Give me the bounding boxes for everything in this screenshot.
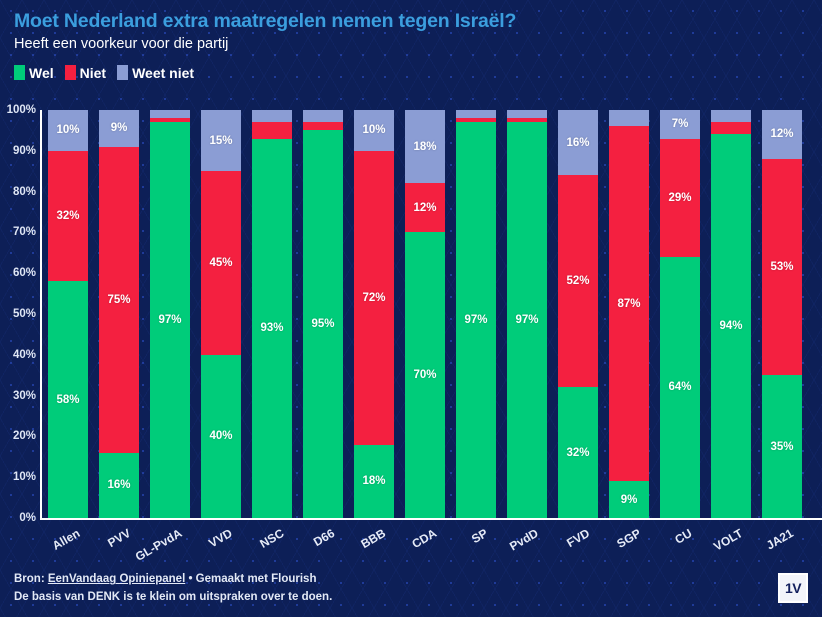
bar-segment-label: 75% xyxy=(107,294,130,306)
y-axis-line xyxy=(40,110,42,518)
bar-column[interactable]: 10%72%18% xyxy=(354,110,394,518)
x-axis-tick: NSC xyxy=(252,520,292,575)
bar-segment[interactable]: 70% xyxy=(405,232,445,518)
x-axis-tick-label: PVV xyxy=(105,526,133,550)
x-axis-tick-label: JA21 xyxy=(764,526,796,552)
bar-column[interactable]: 12%53%35% xyxy=(762,110,802,518)
y-axis-tick-label: 100% xyxy=(7,104,36,116)
y-axis-tick-label: 50% xyxy=(13,308,36,320)
bar-column[interactable]: 16%52%32% xyxy=(558,110,598,518)
bar-segment[interactable]: 7% xyxy=(660,110,700,139)
bar-segment[interactable]: 97% xyxy=(456,122,496,518)
legend-item-weet-niet[interactable]: Weet niet xyxy=(117,65,194,81)
legend-label: Wel xyxy=(29,65,54,81)
bar-segment-label: 9% xyxy=(621,494,638,506)
bar-segment[interactable]: 9% xyxy=(609,481,649,518)
bar-segment[interactable]: 10% xyxy=(354,110,394,151)
bar-segment-label: 97% xyxy=(158,314,181,326)
footer-note: De basis van DENK is te klein om uitspra… xyxy=(14,589,332,607)
source-suffix: • Gemaakt met Flourish xyxy=(185,573,316,585)
x-axis: AllenPVVGL-PvdAVVDNSCD66BBBCDASPPvdDFVDS… xyxy=(48,520,822,575)
bar-segment[interactable]: 12% xyxy=(405,183,445,232)
bar-segment-label: 10% xyxy=(56,124,79,136)
x-axis-tick-label: GL-PvdA xyxy=(133,526,184,564)
bar-segment-label: 52% xyxy=(566,275,589,287)
bar-segment-label: 53% xyxy=(770,261,793,273)
x-axis-tick: SP xyxy=(456,520,496,575)
bar-segment[interactable] xyxy=(252,110,292,122)
x-axis-tick: CU xyxy=(660,520,700,575)
bar-segment[interactable]: 97% xyxy=(150,122,190,518)
bar-segment-label: 93% xyxy=(260,322,283,334)
x-axis-tick-label: NSC xyxy=(257,526,286,551)
bar-segment-label: 12% xyxy=(413,202,436,214)
bar-column[interactable]: 10%32%58% xyxy=(48,110,88,518)
source-line: Bron: EenVandaag Opiniepanel • Gemaakt m… xyxy=(14,571,332,589)
bar-segment-label: 87% xyxy=(617,298,640,310)
bar-segment[interactable] xyxy=(303,110,343,122)
y-axis-tick-label: 20% xyxy=(13,430,36,442)
bar-segment[interactable]: 58% xyxy=(48,281,88,518)
bar-column[interactable]: 94% xyxy=(711,110,751,518)
bar-segment[interactable]: 16% xyxy=(99,453,139,518)
bar-column[interactable]: 87%9% xyxy=(609,110,649,518)
bar-segment[interactable]: 18% xyxy=(405,110,445,183)
x-axis-tick: Allen xyxy=(48,520,88,575)
bar-segment[interactable] xyxy=(711,122,751,134)
x-axis-tick: FVD xyxy=(558,520,598,575)
plot-area: 0%10%20%30%40%50%60%70%80%90%100% 10%32%… xyxy=(40,110,815,518)
bar-segment-label: 16% xyxy=(107,479,130,491)
bar-column[interactable]: 93% xyxy=(252,110,292,518)
bar-column[interactable]: 18%12%70% xyxy=(405,110,445,518)
bar-segment[interactable]: 35% xyxy=(762,375,802,518)
y-axis-tick-label: 30% xyxy=(13,390,36,402)
bar-segment[interactable] xyxy=(252,122,292,138)
x-axis-tick-label: CDA xyxy=(409,526,439,551)
x-axis-tick: PvdD xyxy=(507,520,547,575)
y-axis-tick-label: 0% xyxy=(19,512,36,524)
bar-segment-label: 58% xyxy=(56,394,79,406)
legend-item-wel[interactable]: Wel xyxy=(14,65,54,81)
chart-legend: WelNietWeet niet xyxy=(14,65,808,81)
x-axis-tick-label: FVD xyxy=(564,526,592,550)
bar-column[interactable]: 9%75%16% xyxy=(99,110,139,518)
legend-swatch-icon xyxy=(117,65,128,80)
bar-segment[interactable]: 45% xyxy=(201,171,241,355)
bar-segment-label: 95% xyxy=(311,318,334,330)
bar-segment[interactable]: 72% xyxy=(354,151,394,445)
eenvandaag-logo: 1V xyxy=(778,573,808,603)
y-axis-tick-label: 60% xyxy=(13,267,36,279)
bar-segment[interactable]: 32% xyxy=(48,151,88,282)
bar-segment[interactable]: 94% xyxy=(711,134,751,518)
legend-swatch-icon xyxy=(14,65,25,80)
bar-segment[interactable]: 53% xyxy=(762,159,802,375)
bar-segment[interactable]: 12% xyxy=(762,110,802,159)
bar-segment-label: 45% xyxy=(209,257,232,269)
bar-column[interactable]: 95% xyxy=(303,110,343,518)
x-axis-tick-label: PvdD xyxy=(507,526,541,553)
bar-segment[interactable]: 64% xyxy=(660,257,700,518)
bar-segment-label: 10% xyxy=(362,124,385,136)
bar-segment-label: 12% xyxy=(770,128,793,140)
x-axis-tick-label: VOLT xyxy=(711,526,745,554)
chart-subtitle: Heeft een voorkeur voor die partij xyxy=(14,36,808,53)
bar-column[interactable]: 97% xyxy=(456,110,496,518)
bar-segment[interactable]: 52% xyxy=(558,175,598,387)
bar-column[interactable]: 15%45%40% xyxy=(201,110,241,518)
x-axis-tick-label: CU xyxy=(672,526,694,547)
bar-segment[interactable] xyxy=(609,110,649,126)
bar-segment[interactable]: 75% xyxy=(99,147,139,453)
bar-segment[interactable]: 97% xyxy=(507,122,547,518)
y-axis-tick-label: 40% xyxy=(13,349,36,361)
bar-segment[interactable]: 10% xyxy=(48,110,88,151)
legend-label: Niet xyxy=(80,65,106,81)
bar-segment-label: 70% xyxy=(413,369,436,381)
bar-segment-label: 40% xyxy=(209,430,232,442)
bar-segment-label: 16% xyxy=(566,137,589,149)
bar-segment[interactable]: 29% xyxy=(660,139,700,257)
x-axis-tick: GL-PvdA xyxy=(150,520,190,575)
chart-header: Moet Nederland extra maatregelen nemen t… xyxy=(0,0,822,81)
x-axis-tick-label: D66 xyxy=(311,526,337,549)
x-axis-tick: VVD xyxy=(201,520,241,575)
bar-segment-label: 32% xyxy=(56,210,79,222)
chart-footer: Bron: EenVandaag Opiniepanel • Gemaakt m… xyxy=(14,571,332,607)
source-prefix: Bron: xyxy=(14,573,48,585)
bar-segment[interactable]: 18% xyxy=(354,445,394,518)
x-axis-tick-label: BBB xyxy=(358,526,388,551)
legend-item-niet[interactable]: Niet xyxy=(65,65,106,81)
bar-segment[interactable] xyxy=(711,110,751,122)
bar-segment[interactable]: 95% xyxy=(303,130,343,518)
x-axis-tick: PVV xyxy=(99,520,139,575)
x-axis-tick: SGP xyxy=(609,520,649,575)
y-axis: 0%10%20%30%40%50%60%70%80%90%100% xyxy=(0,110,36,518)
source-link[interactable]: EenVandaag Opiniepanel xyxy=(48,573,185,585)
bar-column[interactable]: 97% xyxy=(507,110,547,518)
legend-swatch-icon xyxy=(65,65,76,80)
bar-segment[interactable]: 15% xyxy=(201,110,241,171)
bar-segment[interactable]: 93% xyxy=(252,139,292,518)
x-axis-tick-label: Allen xyxy=(50,526,82,553)
bar-segment-label: 9% xyxy=(111,122,128,134)
bar-segment-label: 18% xyxy=(413,141,436,153)
x-axis-tick: VOLT xyxy=(711,520,751,575)
bar-segment-label: 94% xyxy=(719,320,742,332)
x-axis-tick-label: SP xyxy=(469,526,490,546)
bar-segment-label: 32% xyxy=(566,447,589,459)
y-axis-tick-label: 10% xyxy=(13,471,36,483)
x-axis-tick: JA21 xyxy=(762,520,802,575)
bar-segment-label: 15% xyxy=(209,135,232,147)
bar-segment-label: 97% xyxy=(515,314,538,326)
y-axis-tick-label: 70% xyxy=(13,226,36,238)
x-axis-tick-label: VVD xyxy=(207,526,235,550)
bar-segment-label: 7% xyxy=(672,118,689,130)
legend-label: Weet niet xyxy=(132,65,194,81)
bar-segment[interactable]: 9% xyxy=(99,110,139,147)
page-title: Moet Nederland extra maatregelen nemen t… xyxy=(14,10,808,32)
bar-segment-label: 29% xyxy=(668,192,691,204)
bar-segment[interactable] xyxy=(507,110,547,118)
bar-segment-label: 18% xyxy=(362,475,385,487)
bar-segment-label: 97% xyxy=(464,314,487,326)
bar-segment[interactable] xyxy=(150,110,190,118)
bar-segment[interactable] xyxy=(303,122,343,130)
y-axis-tick-label: 80% xyxy=(13,186,36,198)
bar-segment[interactable]: 32% xyxy=(558,387,598,518)
bar-segment[interactable] xyxy=(456,110,496,118)
bar-segment[interactable]: 16% xyxy=(558,110,598,175)
x-axis-tick: CDA xyxy=(405,520,445,575)
y-axis-tick-label: 90% xyxy=(13,145,36,157)
bar-segment-label: 35% xyxy=(770,441,793,453)
bar-segment-label: 72% xyxy=(362,292,385,304)
bar-segment[interactable]: 40% xyxy=(201,355,241,518)
x-axis-tick-label: SGP xyxy=(614,526,643,551)
x-axis-tick: BBB xyxy=(354,520,394,575)
bar-segment-label: 64% xyxy=(668,381,691,393)
bar-segment[interactable]: 87% xyxy=(609,126,649,481)
bar-column[interactable]: 7%29%64% xyxy=(660,110,700,518)
bar-column[interactable]: 97% xyxy=(150,110,190,518)
bar-group: 10%32%58%9%75%16%97%15%45%40%93%95%10%72… xyxy=(48,110,815,518)
x-axis-tick: D66 xyxy=(303,520,343,575)
